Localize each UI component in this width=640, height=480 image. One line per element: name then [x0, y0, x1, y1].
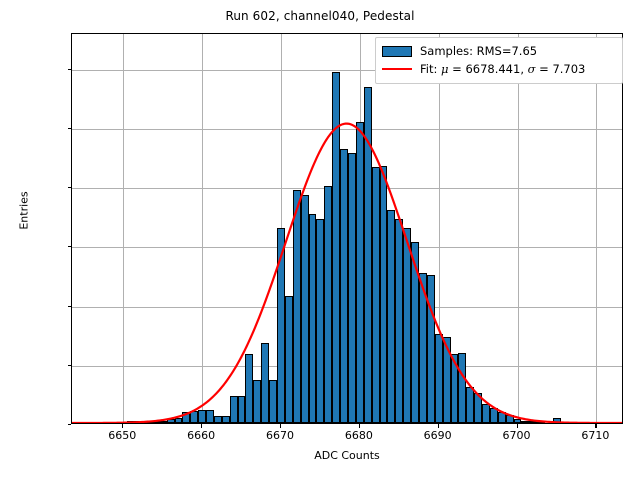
histogram-bar [190, 411, 198, 423]
gridline-vertical [596, 34, 597, 423]
histogram-bar [238, 396, 246, 423]
histogram-bar [498, 412, 506, 423]
histogram-bar [269, 380, 277, 423]
histogram-bar [474, 393, 482, 423]
histogram-bar [458, 353, 466, 423]
histogram-bar [332, 72, 340, 423]
histogram-bar [222, 416, 230, 423]
chart-legend: Samples: RMS=7.65 Fit: μ = 6678.441, σ =… [375, 37, 623, 84]
gridline-vertical [202, 34, 203, 423]
legend-sigma-value: = 7.703 [536, 62, 586, 76]
histogram-bar [427, 275, 435, 423]
histogram-bar [214, 416, 222, 423]
x-tick-mark [201, 424, 202, 428]
y-axis-label: Entries [18, 111, 31, 311]
histogram-bar [387, 210, 395, 423]
histogram-bar [293, 190, 301, 423]
legend-fit-prefix: Fit: [420, 62, 441, 76]
histogram-bar [159, 421, 167, 423]
x-tick-label: 6650 [87, 429, 157, 442]
histogram-bar [135, 421, 143, 423]
y-tick-mark [68, 424, 72, 425]
matplotlib-figure: Run 602, channel040, Pedestal Entries AD… [0, 0, 640, 480]
histogram-bar [230, 396, 238, 423]
legend-patch-icon [382, 46, 412, 57]
histogram-bar [466, 387, 474, 423]
histogram-bar [364, 87, 372, 423]
x-tick-label: 6660 [166, 429, 236, 442]
histogram-bar [529, 421, 537, 423]
histogram-bar [143, 421, 151, 423]
histogram-bar [482, 404, 490, 423]
histogram-bar [553, 418, 561, 423]
chart-title: Run 602, channel040, Pedestal [0, 9, 640, 23]
x-tick-mark [122, 424, 123, 428]
x-tick-mark [280, 424, 281, 428]
x-tick-label: 6710 [560, 429, 630, 442]
legend-label-fit: Fit: μ = 6678.441, σ = 7.703 [420, 62, 585, 76]
legend-sigma-symbol: σ [528, 62, 536, 76]
histogram-bar [451, 354, 459, 423]
gridline-vertical [518, 34, 519, 423]
histogram-bar [435, 334, 443, 423]
histogram-bar [411, 242, 419, 423]
x-tick-mark [359, 424, 360, 428]
histogram-bar [206, 410, 214, 423]
legend-label-samples: Samples: RMS=7.65 [420, 44, 537, 58]
histogram-bar [490, 408, 498, 423]
histogram-bar [198, 410, 206, 423]
legend-entry-samples: Samples: RMS=7.65 [382, 42, 616, 60]
histogram-bar [419, 273, 427, 423]
histogram-bar [340, 149, 348, 423]
histogram-bar [356, 122, 364, 423]
histogram-bar [175, 418, 183, 423]
histogram-bar [253, 380, 261, 423]
histogram-bar [261, 343, 269, 423]
histogram-bar [395, 219, 403, 423]
x-tick-label: 6680 [324, 429, 394, 442]
histogram-bar [537, 421, 545, 423]
x-tick-label: 6670 [245, 429, 315, 442]
histogram-bar [521, 421, 529, 423]
x-tick-mark [517, 424, 518, 428]
x-tick-label: 6690 [403, 429, 473, 442]
histogram-bar [514, 419, 522, 423]
legend-line-icon [382, 68, 412, 70]
histogram-bar [372, 167, 380, 423]
histogram-bar [285, 296, 293, 423]
histogram-bar [151, 421, 159, 423]
plot-area [71, 33, 623, 424]
gridline-vertical [123, 34, 124, 423]
gridline-horizontal [72, 129, 622, 130]
histogram-bar [167, 419, 175, 423]
legend-mu-symbol: μ [441, 62, 448, 76]
histogram-bar [324, 186, 332, 423]
histogram-bar [245, 354, 253, 423]
x-tick-mark [595, 424, 596, 428]
histogram-bar [380, 166, 388, 423]
histogram-bar [506, 415, 514, 423]
x-tick-label: 6700 [482, 429, 552, 442]
legend-entry-fit: Fit: μ = 6678.441, σ = 7.703 [382, 60, 616, 78]
histogram-bar [348, 153, 356, 423]
histogram-bar [443, 337, 451, 423]
legend-mu-value: = 6678.441, [449, 62, 528, 76]
histogram-bar [309, 214, 317, 423]
histogram-bar [301, 195, 309, 423]
histogram-bar [182, 412, 190, 423]
x-tick-mark [438, 424, 439, 428]
histogram-bar [403, 228, 411, 424]
histogram-bar [127, 421, 135, 423]
x-axis-label: ADC Counts [71, 449, 623, 462]
histogram-bar [277, 228, 285, 424]
histogram-bar [316, 219, 324, 423]
